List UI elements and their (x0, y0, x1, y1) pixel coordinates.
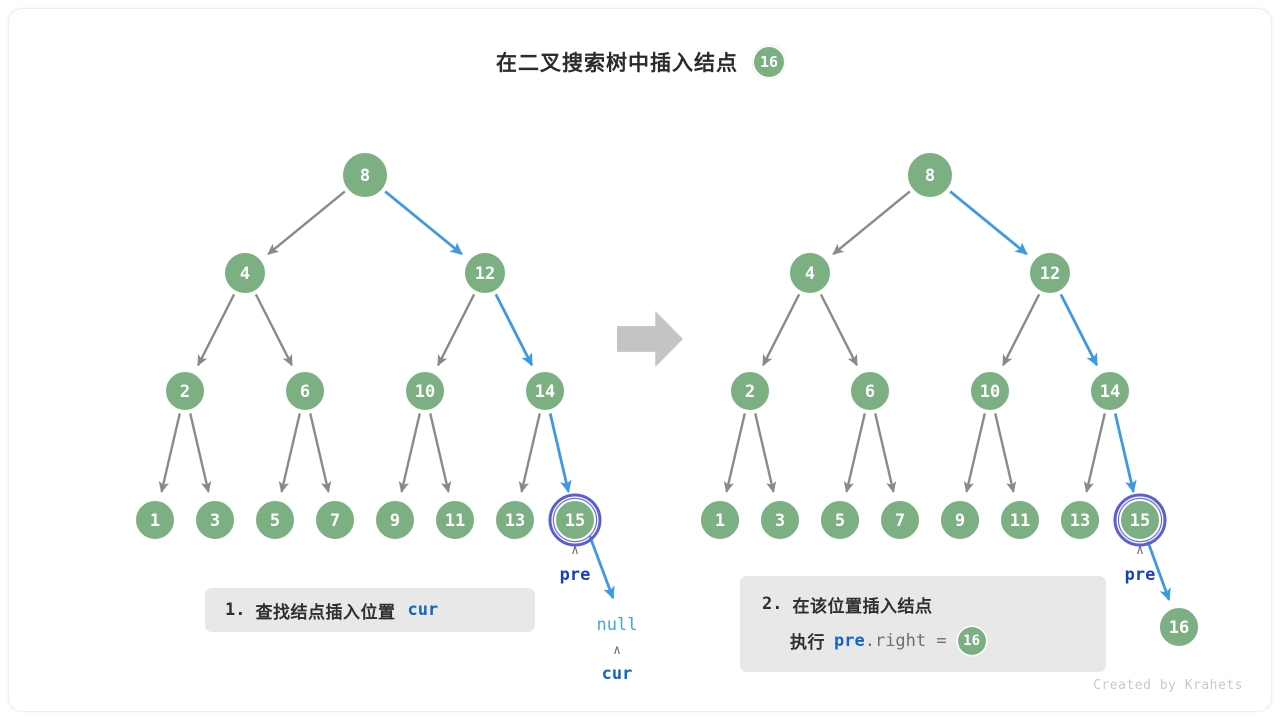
tree-node-9: 9 (940, 500, 980, 540)
pointer-caret-icon: ∧ (613, 643, 621, 658)
tree-node-12: 12 (464, 252, 506, 294)
tree-edge (310, 413, 328, 491)
tree-edge (438, 294, 474, 365)
caption-2-node-16: 16 (956, 625, 988, 657)
tree-edge (162, 413, 180, 491)
node-label: 3 (775, 511, 785, 531)
caption-step-1: 1. 查找结点插入位置 cur (205, 588, 535, 632)
tree-edge (1115, 413, 1133, 491)
node-label: 8 (360, 166, 370, 186)
tree-node-1: 1 (135, 500, 175, 540)
tree-edge (430, 413, 448, 491)
node-label: 16 (1169, 618, 1189, 638)
node-label: 4 (240, 264, 250, 284)
node-label: 10 (415, 382, 435, 402)
tree-node-10: 10 (405, 371, 445, 411)
caption-2-text: 在该位置插入结点 (792, 592, 932, 617)
caption-1-number: 1. (225, 600, 245, 620)
tree-node-13: 13 (1060, 500, 1100, 540)
tree-edge (385, 191, 462, 254)
node-label: 9 (390, 511, 400, 531)
tree-node-3: 3 (195, 500, 235, 540)
caption-2-line-2: 执行 pre .right = 16 (762, 625, 1084, 657)
node-label: 1 (715, 511, 725, 531)
tree-node-11: 11 (435, 500, 475, 540)
tree-edge (198, 294, 234, 365)
tree-edge (522, 413, 540, 491)
pre-pointer-label: pre (1125, 565, 1156, 585)
tree-edge (282, 413, 300, 491)
node-label: 6 (865, 382, 875, 402)
tree-node-7: 7 (880, 500, 920, 540)
tree-node-4: 4 (224, 252, 266, 294)
transition-arrow-icon (617, 311, 683, 367)
tree-node-13: 13 (495, 500, 535, 540)
caption-1-line: 1. 查找结点插入位置 cur (225, 598, 515, 623)
node-label: 9 (955, 511, 965, 531)
tree-node-6: 6 (285, 371, 325, 411)
node-label: 15 (565, 511, 585, 531)
node-label: 7 (895, 511, 905, 531)
tree-node-6: 6 (850, 371, 890, 411)
tree-edge (1087, 413, 1105, 491)
node-label: 5 (835, 511, 845, 531)
node-label: 5 (270, 511, 280, 531)
tree-edge (967, 413, 985, 491)
tree-edge (763, 294, 799, 365)
node-label: 2 (745, 382, 755, 402)
tree-node-11: 11 (1000, 500, 1040, 540)
tree-edge (1003, 294, 1039, 365)
caption-2-exec-label: 执行 (790, 628, 825, 653)
tree-edge (190, 413, 208, 491)
tree-edge (995, 413, 1013, 491)
tree-edge (821, 294, 857, 365)
tree-edge (950, 191, 1027, 254)
tree-edge (727, 413, 745, 491)
tree-edge (496, 294, 532, 365)
credit-text: Created by Krahets (1093, 678, 1243, 693)
tree-edge (1061, 294, 1097, 365)
tree-node-8: 8 (907, 152, 953, 198)
transition-layer (617, 311, 683, 367)
tree-edge (833, 191, 910, 254)
node-label: 2 (180, 382, 190, 402)
tree-edge (402, 413, 420, 491)
node-label: 12 (475, 264, 495, 284)
tree-node-1: 1 (700, 500, 740, 540)
tree-node-14: 14 (525, 371, 565, 411)
caption-2-right-assign: .right = (865, 631, 947, 651)
null-target-label: null (597, 615, 638, 635)
node-label: 15 (1130, 511, 1150, 531)
tree-edge (550, 413, 568, 491)
node-label: 14 (1100, 382, 1120, 402)
diagram-panel: 在二叉搜索树中插入结点 16 8412261014135791113158412… (8, 8, 1272, 712)
caption-2-pre-label: pre (834, 631, 865, 651)
tree-node-3: 3 (760, 500, 800, 540)
node-label: 3 (210, 511, 220, 531)
tree-edge (268, 191, 345, 254)
tree-node-7: 7 (315, 500, 355, 540)
tree-edge (875, 413, 893, 491)
caption-2-number: 2. (762, 594, 782, 614)
node-label: 7 (330, 511, 340, 531)
node-label: 6 (300, 382, 310, 402)
caption-1-cur-label: cur (407, 600, 438, 620)
caption-1-text: 查找结点插入位置 (255, 598, 395, 623)
tree-node-10: 10 (970, 371, 1010, 411)
tree-node-15: 15 (1115, 495, 1165, 545)
caption-2-line-1: 2. 在该位置插入结点 (762, 592, 1084, 617)
node-label: 8 (925, 166, 935, 186)
node-label: 1 (150, 511, 160, 531)
edge-15-to-null (589, 534, 613, 598)
tree-node-5: 5 (255, 500, 295, 540)
caption-step-2: 2. 在该位置插入结点 执行 pre .right = 16 (740, 576, 1106, 672)
cur-pointer-label: cur (602, 664, 633, 684)
node-label: 13 (1070, 511, 1090, 531)
node-label: 11 (1010, 511, 1030, 531)
tree-node-5: 5 (820, 500, 860, 540)
node-label: 12 (1040, 264, 1060, 284)
tree-node-8: 8 (342, 152, 388, 198)
tree-node-16: 16 (1159, 607, 1199, 647)
tree-node-15: 15 (550, 495, 600, 545)
node-label: 14 (535, 382, 555, 402)
node-label: 13 (505, 511, 525, 531)
tree-node-4: 4 (789, 252, 831, 294)
node-label: 10 (980, 382, 1000, 402)
tree-node-2: 2 (730, 371, 770, 411)
tree-node-9: 9 (375, 500, 415, 540)
tree-node-2: 2 (165, 371, 205, 411)
pointer-caret-icon: ∧ (1136, 543, 1144, 558)
tree-node-12: 12 (1029, 252, 1071, 294)
tree-edge (755, 413, 773, 491)
node-label: 11 (445, 511, 465, 531)
node-label: 4 (805, 264, 815, 284)
tree-edge (847, 413, 865, 491)
tree-edge (256, 294, 292, 365)
pre-pointer-label: pre (560, 565, 591, 585)
tree-node-14: 14 (1090, 371, 1130, 411)
nodes-layer: 8412261014135791113158412261014135791113… (135, 152, 1199, 647)
pointer-caret-icon: ∧ (571, 543, 579, 558)
